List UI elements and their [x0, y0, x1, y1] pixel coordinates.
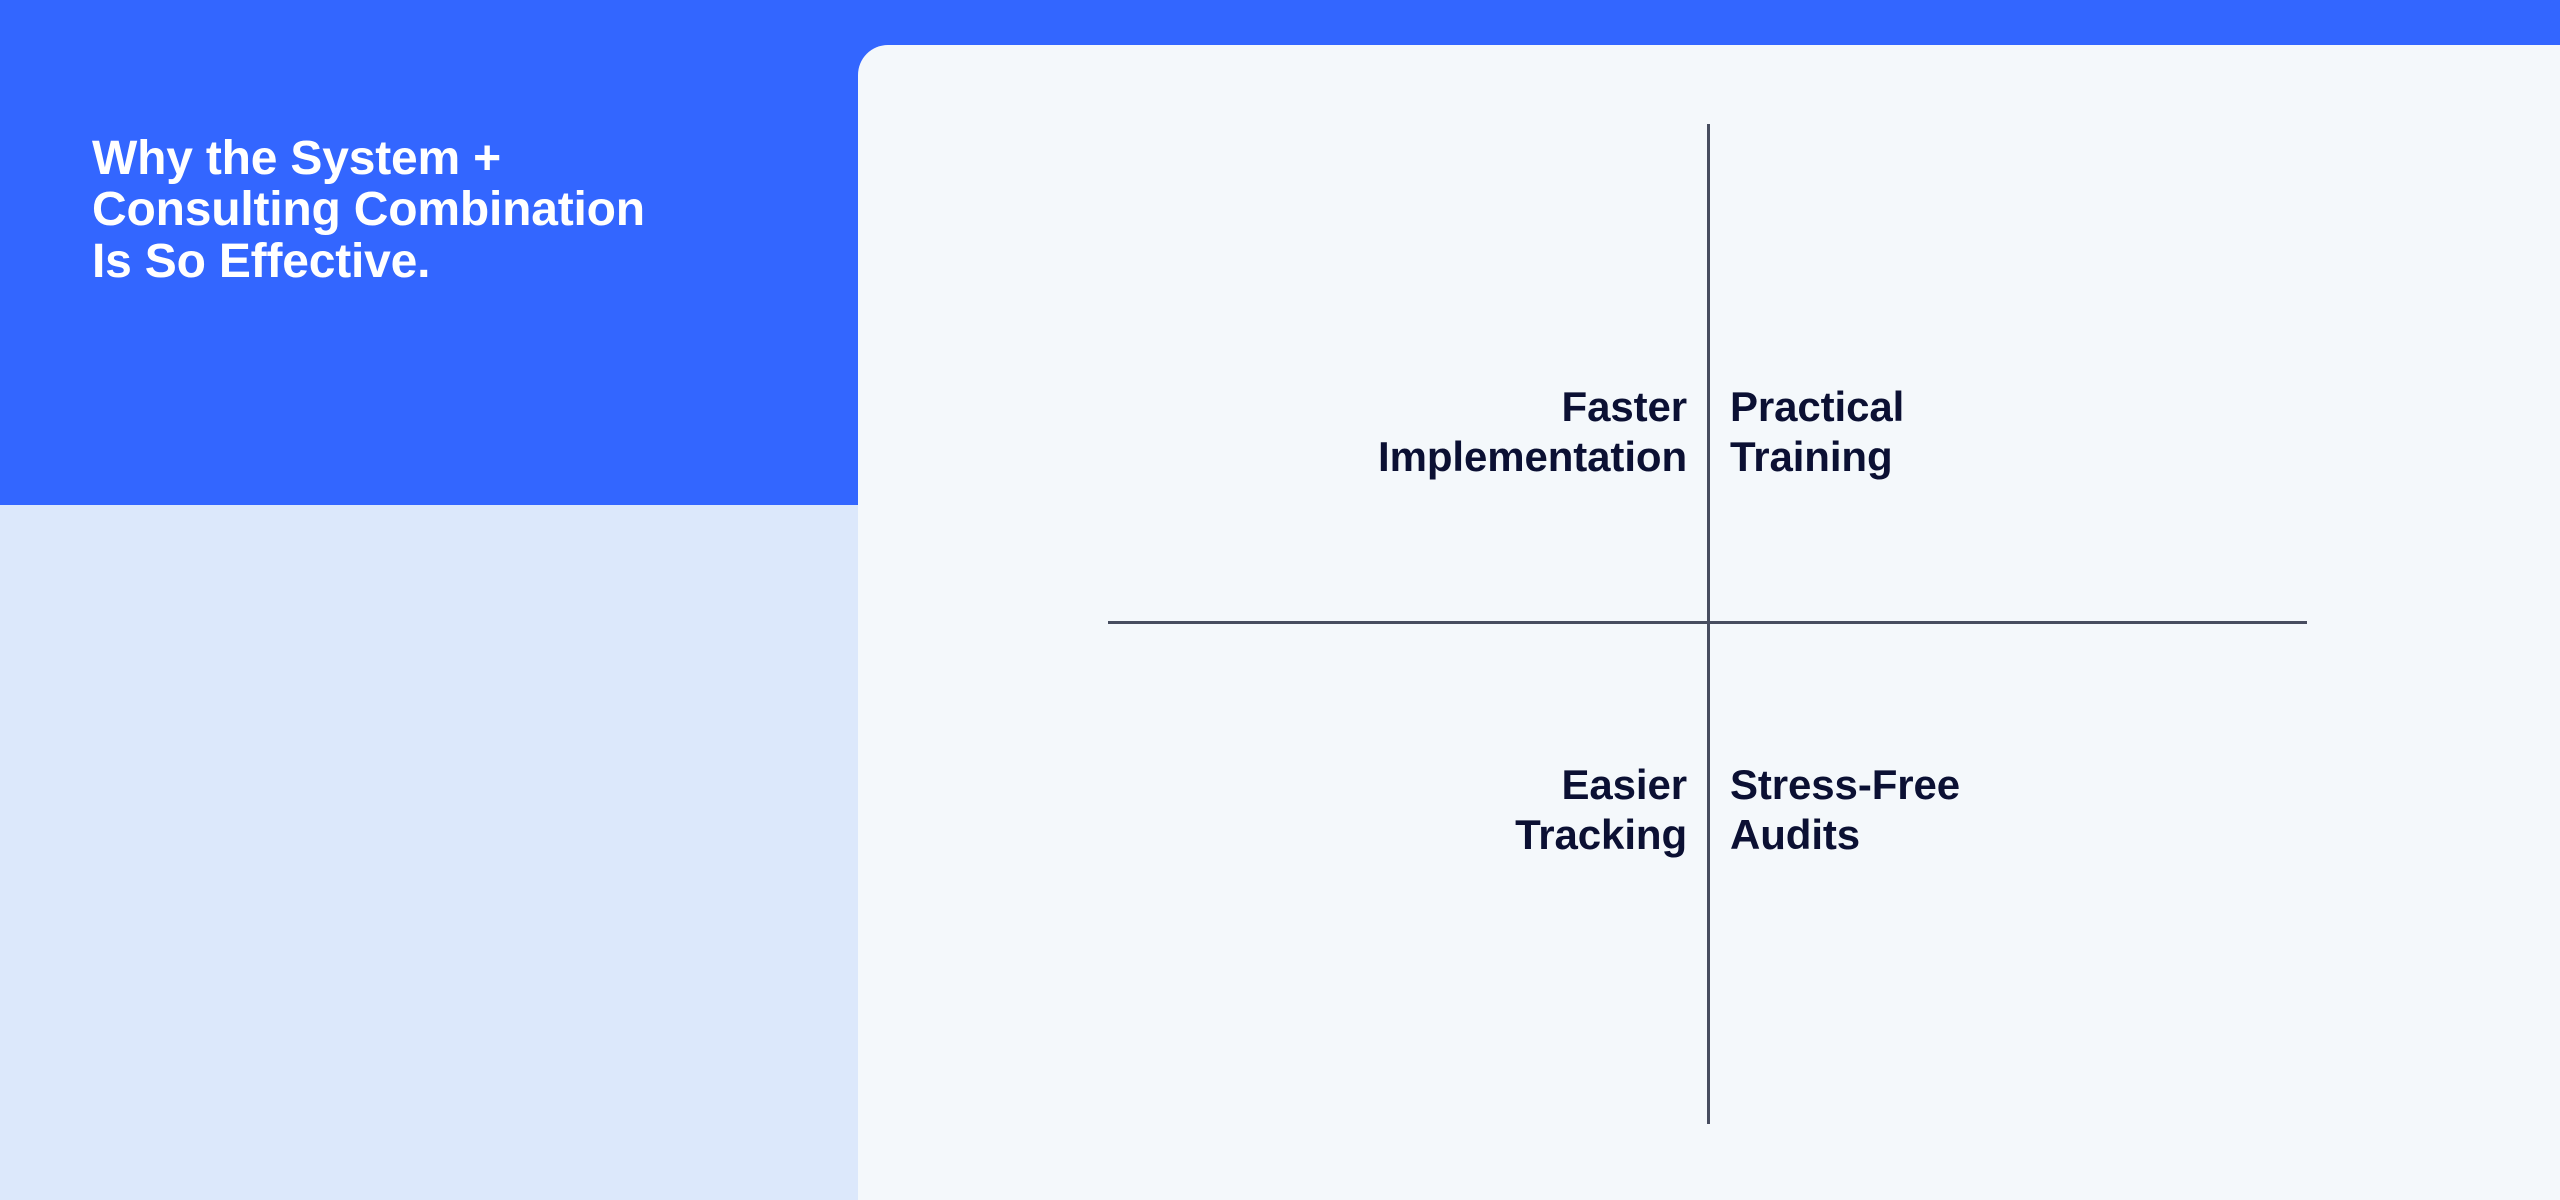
quadrant-grid: Faster Implementation Practical Training…: [858, 45, 2560, 1200]
page-title: Why the System + Consulting Combination …: [92, 133, 812, 287]
quadrant-top-right-label: Practical Training: [1730, 382, 2330, 482]
quadrant-bottom-left-label: Easier Tracking: [1107, 760, 1687, 860]
horizontal-divider: [1108, 621, 2307, 624]
quadrant-top-left-label: Faster Implementation: [1107, 382, 1687, 482]
vertical-divider: [1707, 124, 1710, 1124]
headline-block: Why the System + Consulting Combination …: [0, 0, 858, 505]
slide-canvas: Why the System + Consulting Combination …: [0, 0, 2560, 1200]
content-panel: Faster Implementation Practical Training…: [858, 45, 2560, 1200]
quadrant-bottom-right-label: Stress-Free Audits: [1730, 760, 2330, 860]
